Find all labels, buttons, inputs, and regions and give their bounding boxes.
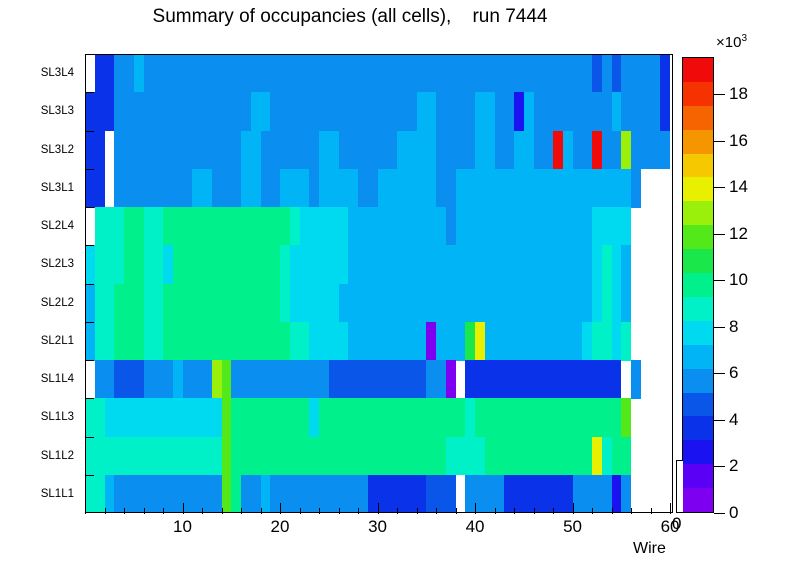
- color-bar-tick: [714, 94, 725, 95]
- color-bar-tick: [714, 420, 725, 421]
- heatmap-cell: [300, 207, 349, 246]
- heatmap-cell: [183, 360, 212, 399]
- color-bar-tick-label: 6: [729, 363, 738, 383]
- heatmap-cell: [465, 398, 475, 437]
- heatmap-cell: [212, 360, 222, 399]
- y-axis-tick-label: SL3L2: [41, 144, 74, 156]
- heatmap-cell: [173, 245, 280, 284]
- y-axis-tick-label: SL3L3: [41, 105, 74, 117]
- y-axis-tick: [85, 92, 94, 93]
- heatmap-cell: [222, 360, 232, 399]
- x-axis-minor-tick: [612, 508, 613, 514]
- chart-title: Summary of occupancies (all cells), run …: [0, 6, 700, 28]
- heatmap-cell: [309, 398, 319, 437]
- x-axis-major-tick: [670, 503, 671, 514]
- y-axis-tick: [85, 284, 94, 285]
- color-bar-exponent-base: ×10: [716, 34, 741, 51]
- x-axis-minor-tick: [144, 508, 145, 514]
- heatmap-cell: [514, 92, 524, 131]
- heatmap-cell: [85, 398, 105, 437]
- x-axis-tick-label: 50: [563, 517, 582, 537]
- heatmap-cell: [231, 360, 329, 399]
- color-bar-segment: [683, 391, 713, 416]
- x-axis-minor-tick: [163, 508, 164, 514]
- heatmap-cell: [319, 398, 465, 437]
- color-bar-tick: [714, 373, 725, 374]
- heatmap-cell: [144, 245, 164, 284]
- heatmap-cell: [446, 437, 485, 476]
- heatmap-cell: [231, 437, 446, 476]
- y-axis-tick: [85, 131, 94, 132]
- color-bar-segment: [683, 152, 713, 177]
- heatmap-cell: [456, 169, 632, 208]
- x-axis-major-tick: [280, 503, 281, 514]
- heatmap-cell: [95, 207, 124, 246]
- y-axis-tick: [85, 360, 94, 361]
- color-bar-tick: [714, 141, 725, 142]
- heatmap-cell: [144, 284, 164, 323]
- heatmap-cell: [426, 360, 446, 399]
- heatmap-cell: [465, 322, 475, 361]
- x-axis-minor-tick: [300, 508, 301, 514]
- color-bar-segment: [683, 176, 713, 201]
- color-bar-exponent: ×103: [716, 33, 747, 51]
- y-axis-tick-label: SL1L3: [41, 411, 74, 423]
- heatmap-cell: [114, 284, 143, 323]
- heatmap-cell: [417, 92, 437, 131]
- heatmap-cell: [241, 131, 261, 170]
- color-bar-segment: [683, 248, 713, 273]
- heatmap-cell: [495, 131, 515, 170]
- heatmap-cell: [85, 245, 95, 284]
- heatmap-cell: [602, 284, 612, 323]
- color-bar-segment: [683, 344, 713, 369]
- heatmap-cell: [426, 475, 455, 513]
- heatmap-cell: [553, 131, 563, 170]
- heatmap-cell: [114, 475, 221, 513]
- x-axis-minor-tick: [261, 508, 262, 514]
- heatmap-cell: [309, 322, 348, 361]
- color-bar-tick-label: 14: [729, 177, 748, 197]
- x-axis-major-tick: [378, 503, 379, 514]
- heatmap-cell: [261, 131, 320, 170]
- heatmap-cell: [339, 131, 398, 170]
- color-bar-tick: [714, 234, 725, 235]
- color-bar-segment: [683, 81, 713, 106]
- color-bar-tick-label: 10: [729, 270, 748, 290]
- x-axis-minor-tick: [397, 508, 398, 514]
- heatmap-cell: [290, 322, 310, 361]
- heatmap-cell: [631, 169, 641, 208]
- heatmap-cell: [475, 92, 495, 131]
- color-bar-segment: [683, 200, 713, 225]
- x-axis-minor-tick: [436, 508, 437, 514]
- color-bar-segment: [683, 57, 713, 82]
- heatmap-cell: [231, 398, 309, 437]
- heatmap-cell: [465, 475, 504, 513]
- heatmap-cell: [485, 437, 592, 476]
- heatmap-cell: [222, 437, 232, 476]
- heatmap-cell: [612, 322, 622, 361]
- color-bar-tick-label: 4: [729, 410, 738, 430]
- heatmap-cell: [309, 169, 319, 208]
- heatmap-cell: [621, 398, 631, 437]
- heatmap-cell: [612, 284, 622, 323]
- heatmap-cell: [144, 360, 173, 399]
- heatmap-cell: [222, 475, 232, 513]
- heatmap-cell: [192, 169, 212, 208]
- y-axis-tick-label: SL3L1: [41, 182, 74, 194]
- heatmap-cell: [95, 54, 115, 93]
- color-bar-segment: [683, 272, 713, 297]
- heatmap-cell: [582, 322, 592, 361]
- heatmap-cell: [621, 54, 660, 93]
- x-axis-minor-tick: [417, 508, 418, 514]
- heatmap-cell: [124, 245, 144, 284]
- origin-label: 0: [672, 514, 681, 534]
- heatmap-cell: [456, 207, 593, 246]
- x-axis-tick-label: 40: [466, 517, 485, 537]
- heatmap-cell: [241, 169, 261, 208]
- heatmap-cell: [612, 437, 632, 476]
- y-axis-tick: [85, 398, 94, 399]
- heatmap-cell: [592, 245, 602, 284]
- heatmap-cell: [280, 284, 290, 323]
- heatmap-cell: [85, 131, 105, 170]
- color-bar-tick: [714, 280, 725, 281]
- heatmap-cell: [163, 322, 290, 361]
- y-axis-tick: [85, 437, 94, 438]
- heatmap-cell: [114, 92, 251, 131]
- y-axis-labels: SL3L4SL3L3SL3L2SL3L1SL2L4SL2L3SL2L2SL2L1…: [0, 54, 82, 513]
- heatmap-cell: [290, 284, 339, 323]
- heatmap-cell: [446, 360, 456, 399]
- heatmap-cell: [261, 169, 281, 208]
- y-axis-tick-label: SL3L4: [41, 67, 74, 79]
- x-axis-title: Wire: [633, 540, 666, 558]
- color-bar-segment: [683, 415, 713, 440]
- heatmap-cell: [114, 54, 134, 93]
- heatmap-cell: [602, 437, 612, 476]
- heatmap-cell: [592, 284, 602, 323]
- heatmap-cell: [612, 475, 622, 513]
- heatmap-cell: [621, 131, 631, 170]
- heatmap-cell: [290, 245, 349, 284]
- y-axis-tick: [85, 207, 94, 208]
- heatmap-cell: [426, 322, 436, 361]
- color-bar-segment: [683, 296, 713, 321]
- heatmap-cell: [514, 131, 534, 170]
- color-bar-tick: [714, 466, 725, 467]
- x-axis-minor-tick: [631, 508, 632, 514]
- heatmap-cell: [348, 207, 446, 246]
- color-bar[interactable]: [682, 57, 714, 513]
- heatmap-cell: [534, 131, 554, 170]
- color-bar-tick-label: 2: [729, 456, 738, 476]
- x-axis-minor-tick: [514, 508, 515, 514]
- heatmap-cell: [95, 360, 115, 399]
- heatmap-cell: [660, 92, 670, 131]
- heatmap-cell: [378, 169, 437, 208]
- heatmap-cell: [485, 322, 583, 361]
- x-axis-tick-label: 10: [173, 517, 192, 537]
- x-axis-minor-tick: [319, 508, 320, 514]
- heatmap-cell: [573, 131, 593, 170]
- heatmap-cell: [251, 92, 271, 131]
- heatmap-cell: [134, 54, 144, 93]
- x-axis-minor-tick: [339, 508, 340, 514]
- color-bar-tick-label: 18: [729, 84, 748, 104]
- y-axis-tick: [85, 475, 94, 476]
- heatmap-cell: [631, 131, 670, 170]
- heatmap-cell: [592, 131, 602, 170]
- heatmap-cell: [85, 322, 95, 361]
- x-axis-major-tick: [183, 503, 184, 514]
- heatmap-cell: [348, 322, 426, 361]
- y-axis-tick: [85, 169, 94, 170]
- x-axis-minor-tick: [358, 508, 359, 514]
- heatmap-cell: [436, 322, 465, 361]
- heatmap-cell: [602, 245, 612, 284]
- heatmap-cell: [339, 284, 593, 323]
- heatmap-cell: [475, 131, 495, 170]
- color-bar-segment: [683, 320, 713, 345]
- heatmap-cell: [144, 54, 593, 93]
- color-bar-segment: [683, 368, 713, 393]
- heatmap-cell: [114, 169, 192, 208]
- x-axis-minor-tick: [592, 508, 593, 514]
- heatmap-cell: [163, 245, 173, 284]
- x-axis-minor-tick: [105, 508, 106, 514]
- color-bar-segment: [683, 487, 713, 512]
- color-bar-tick: [714, 187, 725, 188]
- heatmap-cell: [105, 475, 115, 513]
- color-bar-tick: [714, 327, 725, 328]
- x-axis-major-tick: [475, 503, 476, 514]
- y-axis-tick-label: SL2L4: [41, 220, 74, 232]
- heatmap-cell: [612, 92, 622, 131]
- heatmap-cell: [329, 360, 427, 399]
- y-axis-tick-label: SL2L2: [41, 297, 74, 309]
- heatmap-cell: [563, 131, 573, 170]
- x-axis-tick-label: 30: [368, 517, 387, 537]
- heatmap-cell: [621, 284, 631, 323]
- heatmap-cell: [602, 54, 612, 93]
- x-axis-minor-tick: [495, 508, 496, 514]
- heatmap-cell: [319, 169, 358, 208]
- heatmap-cell: [621, 92, 660, 131]
- heatmap-cell: [348, 245, 592, 284]
- heatmap-cell: [163, 207, 290, 246]
- heatmap-cell: [446, 207, 456, 246]
- x-axis-major-tick: [573, 503, 574, 514]
- x-axis-minor-tick: [124, 508, 125, 514]
- y-axis-tick-label: SL2L3: [41, 258, 74, 270]
- heatmap-cell: [95, 284, 115, 323]
- heatmap-cell: [592, 437, 602, 476]
- color-bar-segment: [683, 105, 713, 130]
- heatmap-cell: [631, 360, 641, 399]
- heatmap-cell: [465, 360, 621, 399]
- heatmap-cell: [602, 131, 622, 170]
- heatmap-cell: [163, 284, 280, 323]
- heatmap-cell: [621, 322, 631, 361]
- heatmap-cell: [85, 437, 222, 476]
- y-axis-tick-label: SL1L2: [41, 450, 74, 462]
- x-axis-minor-tick: [553, 508, 554, 514]
- x-axis-minor-tick: [241, 508, 242, 514]
- heatmap-cell: [621, 475, 631, 513]
- x-axis-minor-tick: [202, 508, 203, 514]
- x-axis-minor-tick: [85, 508, 86, 514]
- color-bar-tick-label: 8: [729, 317, 738, 337]
- heatmap-cell: [114, 131, 241, 170]
- heatmap-cell: [85, 284, 95, 323]
- heatmap-cell: [612, 245, 622, 284]
- heatmap-cell: [534, 92, 612, 131]
- heatmap-cell: [280, 245, 290, 284]
- heatmap-cell: [144, 322, 164, 361]
- heatmap-cell: [436, 92, 475, 131]
- color-bar-tick-label: 16: [729, 131, 748, 151]
- heatmap-cell: [358, 169, 378, 208]
- heatmap-cell: [85, 475, 105, 513]
- heatmap-cell: [144, 207, 164, 246]
- color-bar-segment: [683, 463, 713, 488]
- color-bar-segment: [683, 439, 713, 464]
- x-axis-minor-tick: [456, 508, 457, 514]
- heatmap-cell: [592, 322, 612, 361]
- heatmap-cell: [241, 475, 261, 513]
- color-bar-tick-label: 0: [729, 503, 738, 523]
- heatmap-cell: [85, 92, 114, 131]
- heatmap-cell: [660, 54, 670, 93]
- heatmap-cell: [524, 92, 534, 131]
- heatmap-cell: [85, 169, 105, 208]
- heatmap-cell: [280, 169, 309, 208]
- y-axis-tick-label: SL2L1: [41, 335, 74, 347]
- heatmap-cell: [261, 475, 271, 513]
- heatmap-cell: [105, 398, 222, 437]
- x-axis-tick-label: 20: [271, 517, 290, 537]
- heatmap-plot-area[interactable]: [85, 54, 673, 513]
- color-bar-segment: [683, 129, 713, 154]
- heatmap-cell: [114, 322, 143, 361]
- heatmap-cell: [95, 245, 124, 284]
- heatmap-cell: [290, 207, 300, 246]
- heatmap-cell: [475, 398, 621, 437]
- heatmap-cell: [495, 92, 515, 131]
- chart-canvas: Summary of occupancies (all cells), run …: [0, 0, 796, 572]
- heatmap-cell: [222, 398, 232, 437]
- color-bar-tick-label: 12: [729, 224, 748, 244]
- x-axis-minor-tick: [651, 508, 652, 514]
- color-bar-exponent-power: 3: [741, 33, 747, 44]
- y-axis-tick: [85, 245, 94, 246]
- heatmap-cell: [612, 54, 622, 93]
- heatmap-cell: [592, 207, 631, 246]
- x-axis-minor-tick: [222, 508, 223, 514]
- color-bar-segment: [683, 224, 713, 249]
- axis-stub: [676, 460, 683, 513]
- heatmap-cell: [231, 475, 241, 513]
- y-axis-tick-label: SL1L4: [41, 373, 74, 385]
- heatmap-cell: [212, 169, 241, 208]
- heatmap-cell: [270, 92, 416, 131]
- y-axis-tick-label: SL1L1: [41, 488, 74, 500]
- heatmap-cell: [95, 322, 115, 361]
- heatmap-cell: [319, 131, 339, 170]
- heatmap-cell: [397, 131, 436, 170]
- heatmap-cell: [436, 169, 456, 208]
- heatmap-cell: [436, 131, 475, 170]
- heatmap-cell: [114, 360, 143, 399]
- heatmap-cell: [173, 360, 183, 399]
- x-axis-minor-tick: [534, 508, 535, 514]
- heatmap-cell: [475, 322, 485, 361]
- heatmap-cell: [124, 207, 144, 246]
- heatmap-cell: [592, 54, 602, 93]
- y-axis-tick: [85, 322, 94, 323]
- heatmap-cell: [621, 245, 631, 284]
- color-bar-tick: [714, 513, 725, 514]
